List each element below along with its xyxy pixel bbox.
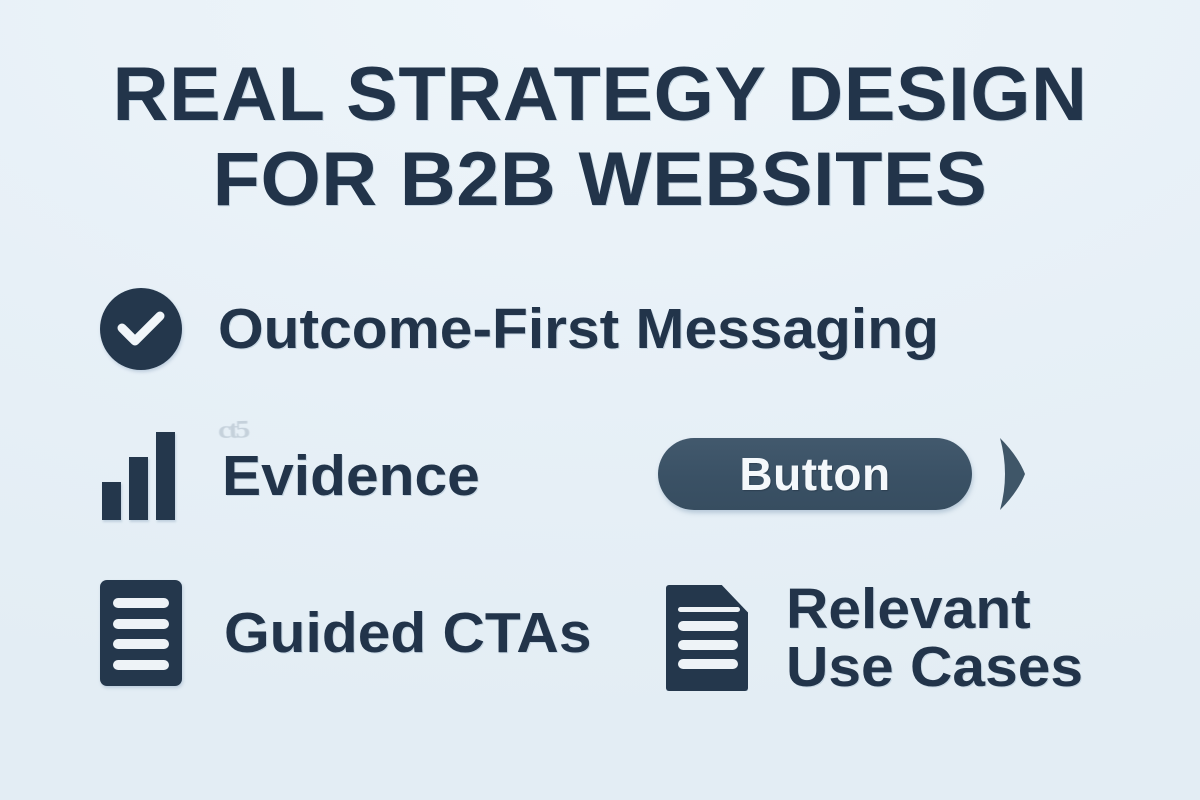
poster-title: REAL STRATEGY DESIGN FOR B2B WEBSITES [0, 52, 1200, 222]
feature-label-evidence: Evidence [222, 447, 480, 505]
document-lines [113, 598, 169, 670]
feature-label-outcome-first-messaging: Outcome-First Messaging [218, 300, 939, 358]
poster-canvas: REAL STRATEGY DESIGN FOR B2B WEBSITES Ou… [0, 0, 1200, 800]
cta-button-label: Button [739, 451, 890, 497]
document-lines-icon [100, 580, 182, 686]
chevron-right-icon[interactable] [996, 434, 1028, 514]
document-line-2 [678, 621, 738, 631]
document-line-3 [113, 639, 169, 649]
title-line-2: FOR B2B WEBSITES [0, 137, 1200, 222]
feature-label-guided-ctas: Guided CTAs [224, 604, 591, 662]
title-line-1: REAL STRATEGY DESIGN [0, 52, 1200, 137]
feature-item-evidence: Evidence [100, 432, 472, 520]
document-line-2 [113, 619, 169, 629]
document-line-1 [113, 598, 169, 608]
bar-chart-bar-3 [156, 432, 175, 520]
cta-button[interactable]: Button [658, 438, 972, 510]
feature-item-relevant-use-cases: Relevant Use Cases [666, 580, 1074, 696]
cta-group: Button [658, 434, 1028, 514]
document-folded-corner-icon [666, 585, 748, 691]
document-lines [678, 607, 738, 669]
faint-artifact-glyph: ct5 [217, 417, 247, 443]
check-circle-icon [100, 288, 182, 370]
bar-chart-icon [100, 432, 178, 520]
bar-chart-bar-2 [129, 457, 148, 520]
document-line-4 [678, 659, 738, 669]
feature-item-guided-ctas: Guided CTAs [100, 580, 581, 686]
document-line-4 [113, 660, 169, 670]
bar-chart-bar-1 [102, 482, 121, 520]
feature-item-outcome-first-messaging: Outcome-First Messaging [100, 288, 918, 370]
document-line-3 [678, 640, 738, 650]
feature-label-relevant-use-cases: Relevant Use Cases [786, 580, 1083, 696]
document-line-1 [678, 607, 740, 612]
